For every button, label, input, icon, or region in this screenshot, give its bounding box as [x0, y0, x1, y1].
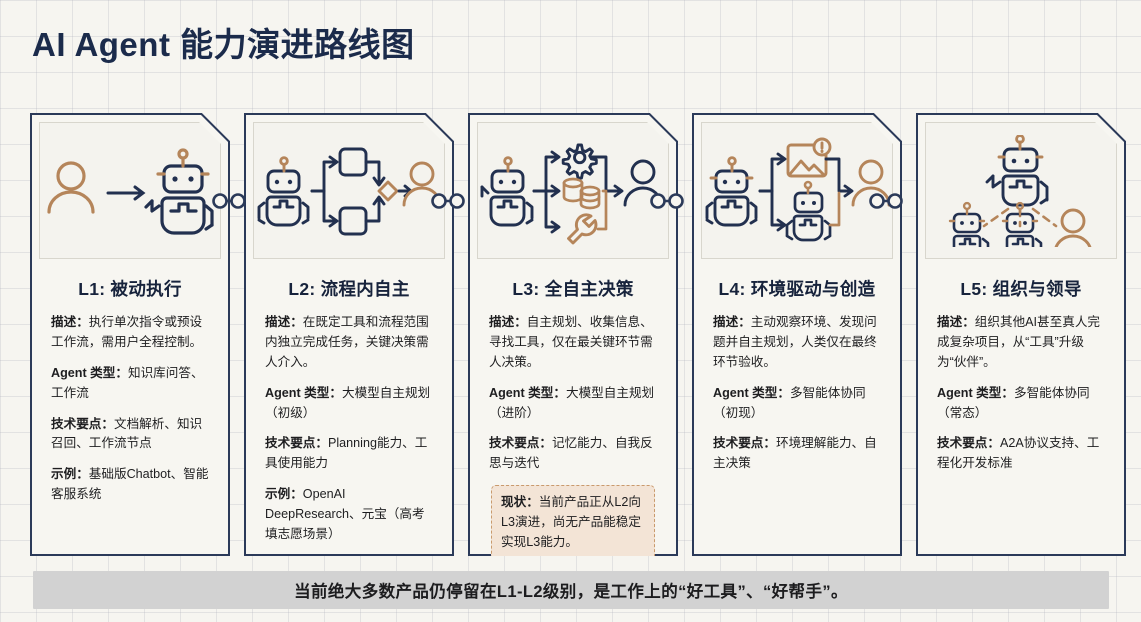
label-agent-type: Agent 类型：	[937, 386, 1014, 400]
field-desc-l3: 描述：自主规划、收集信息、寻找工具，仅在最关键环节需人决策。	[489, 313, 657, 373]
footer-banner: 当前绝大多数产品仍停留在L1-L2级别，是工作上的“好工具”、“好帮手”。	[33, 571, 1109, 609]
field-tech-l2: 技术要点：Planning能力、工具使用能力	[265, 434, 433, 474]
field-example-l2: 示例：OpenAI DeepResearch、元宝（高考填志愿场景）	[265, 485, 433, 545]
label-tech: 技术要点：	[489, 436, 552, 450]
card-body-l1: 描述：执行单次指令或预设工作流，需用户全程控制。 Agent 类型：知识库问答、…	[39, 313, 221, 546]
page-title: AI Agent 能力演进路线图	[32, 18, 415, 66]
card-body-l3: 描述：自主规划、收集信息、寻找工具，仅在最关键环节需人决策。 Agent 类型：…	[477, 313, 669, 562]
label-desc: 描述：	[713, 315, 751, 329]
label-example: 示例：	[51, 467, 89, 481]
robot-tools-gear-database-wrench-user-icon	[477, 122, 669, 259]
label-desc: 描述：	[265, 315, 303, 329]
level-card-l4[interactable]: L4: 环境驱动与创造 描述：主动观察环境、发现问题并自主规划，人类仅在最终环节…	[692, 113, 902, 556]
field-agent-type-l4: Agent 类型：多智能体协同（初现）	[713, 384, 881, 424]
status-note-l3: 现状：当前产品正从L2向L3演进，尚无产品能稳定实现L3能力。	[491, 485, 655, 562]
label-agent-type: Agent 类型：	[51, 366, 128, 380]
label-tech: 技术要点：	[51, 417, 114, 431]
label-status: 现状：	[501, 495, 539, 509]
label-desc: 描述：	[489, 315, 527, 329]
card-title-l4: L4: 环境驱动与创造	[701, 276, 893, 301]
card-body-l2: 描述：在既定工具和流程范围内独立完成任务，关键决策需人介入。 Agent 类型：…	[253, 313, 445, 556]
level-card-l2[interactable]: L2: 流程内自主 描述：在既定工具和流程范围内独立完成任务，关键决策需人介入。…	[244, 113, 454, 556]
field-desc-l5: 描述：组织其他AI甚至真人完成复杂项目，从“工具”升级为“伙伴”。	[937, 313, 1105, 373]
level-card-l5[interactable]: L5: 组织与领导 描述：组织其他AI甚至真人完成复杂项目，从“工具”升级为“伙…	[916, 113, 1126, 556]
field-agent-type-l1: Agent 类型：知识库问答、工作流	[51, 364, 209, 404]
field-tech-l3: 技术要点：记忆能力、自我反思与迭代	[489, 434, 657, 474]
label-tech: 技术要点：	[713, 436, 776, 450]
field-tech-l1: 技术要点：文档解析、知识召回、工作流节点	[51, 415, 209, 455]
robot-environment-alert-robot-user-icon	[701, 122, 893, 259]
levels-row: L1: 被动执行 描述：执行单次指令或预设工作流，需用户全程控制。 Agent …	[30, 113, 1111, 556]
level-card-l1[interactable]: L1: 被动执行 描述：执行单次指令或预设工作流，需用户全程控制。 Agent …	[30, 113, 230, 556]
leader-robot-team-icon	[925, 122, 1117, 259]
field-tech-l4: 技术要点：环境理解能力、自主决策	[713, 434, 881, 474]
field-agent-type-l2: Agent 类型：大模型自主规划（初级）	[265, 384, 433, 424]
label-agent-type: Agent 类型：	[489, 386, 566, 400]
field-agent-type-l3: Agent 类型：大模型自主规划（进阶）	[489, 384, 657, 424]
field-example-l1: 示例：基础版Chatbot、智能客服系统	[51, 465, 209, 505]
label-agent-type: Agent 类型：	[265, 386, 342, 400]
card-title-l2: L2: 流程内自主	[253, 276, 445, 301]
label-agent-type: Agent 类型：	[713, 386, 790, 400]
field-desc-l4: 描述：主动观察环境、发现问题并自主规划，人类仅在最终环节验收。	[713, 313, 881, 373]
field-desc-l2: 描述：在既定工具和流程范围内独立完成任务，关键决策需人介入。	[265, 313, 433, 373]
user-arrow-robot-icon	[39, 122, 221, 259]
card-body-l4: 描述：主动观察环境、发现问题并自主规划，人类仅在最终环节验收。 Agent 类型…	[701, 313, 893, 546]
label-desc: 描述：	[51, 315, 89, 329]
label-tech: 技术要点：	[937, 436, 1000, 450]
card-title-l5: L5: 组织与领导	[925, 276, 1117, 301]
field-desc-l1: 描述：执行单次指令或预设工作流，需用户全程控制。	[51, 313, 209, 353]
level-card-l3[interactable]: L3: 全自主决策 描述：自主规划、收集信息、寻找工具，仅在最关键环节需人决策。…	[468, 113, 678, 556]
field-agent-type-l5: Agent 类型：多智能体协同（常态）	[937, 384, 1105, 424]
card-title-l1: L1: 被动执行	[39, 276, 221, 301]
card-title-l3: L3: 全自主决策	[477, 276, 669, 301]
card-body-l5: 描述：组织其他AI甚至真人完成复杂项目，从“工具”升级为“伙伴”。 Agent …	[925, 313, 1117, 546]
label-tech: 技术要点：	[265, 436, 328, 450]
robot-flowchart-decision-user-icon	[253, 122, 445, 259]
label-example: 示例：	[265, 487, 303, 501]
label-desc: 描述：	[937, 315, 975, 329]
footer-text: 当前绝大多数产品仍停留在L1-L2级别，是工作上的“好工具”、“好帮手”。	[294, 578, 848, 602]
field-tech-l5: 技术要点：A2A协议支持、工程化开发标准	[937, 434, 1105, 474]
